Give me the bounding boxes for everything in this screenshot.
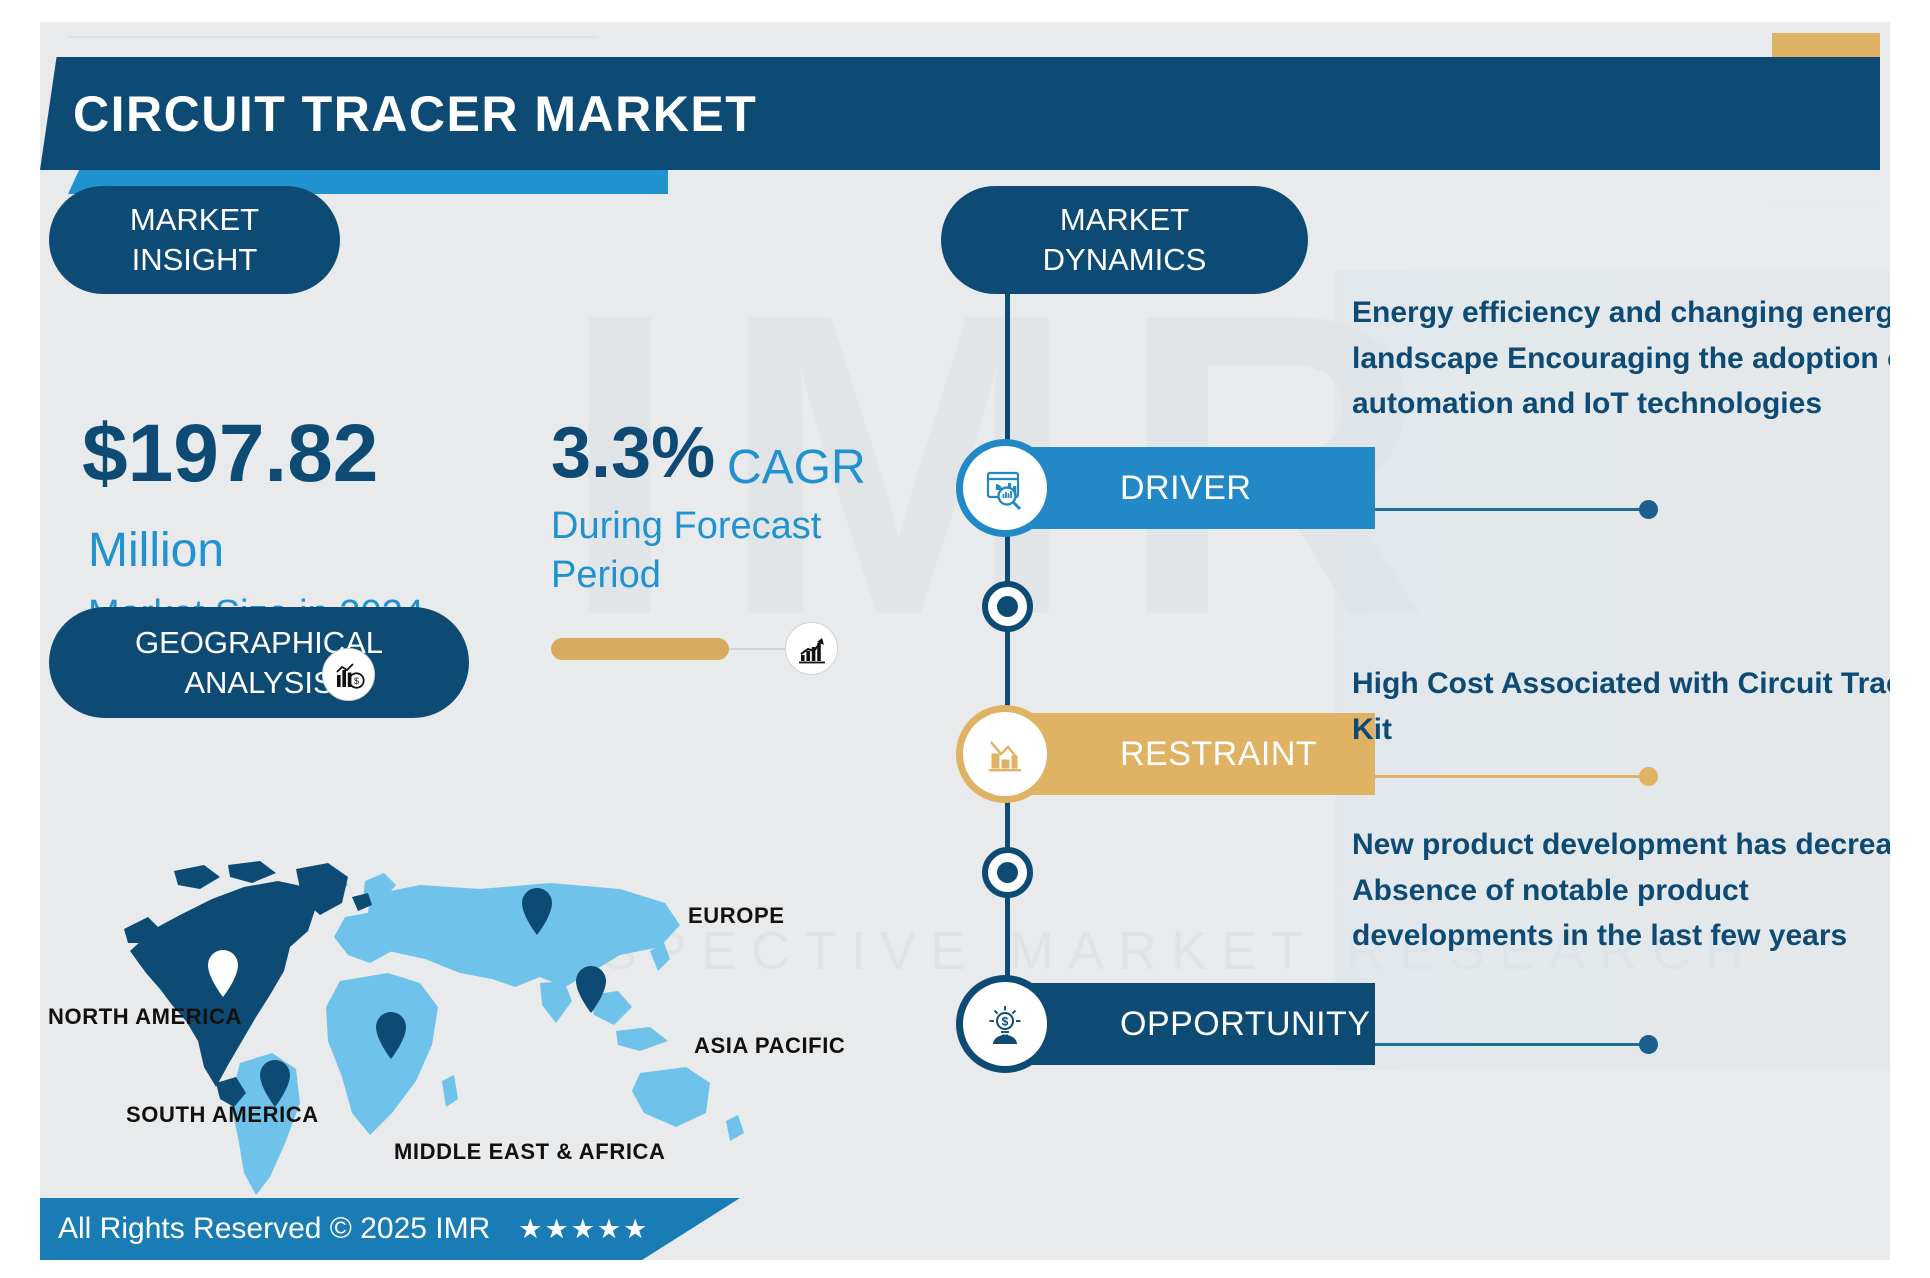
- driver-label: DRIVER: [1120, 469, 1251, 508]
- geo-pill-line2: ANALYSIS: [184, 663, 333, 703]
- map-label-south-america: SOUTH AMERICA: [126, 1102, 319, 1128]
- dynamics-timeline-spine: [1005, 294, 1010, 1035]
- footer-copyright: All Rights Reserved © 2025 IMR: [58, 1212, 490, 1246]
- restraint-connector-dot: [1639, 767, 1658, 786]
- svg-text:$: $: [353, 676, 358, 686]
- restraint-badge[interactable]: RESTRAINT: [1005, 713, 1375, 795]
- dynamics-pill-line2: DYNAMICS: [1043, 240, 1207, 280]
- frame-top: [0, 0, 1930, 22]
- frame-bottom: [0, 1260, 1930, 1278]
- infographic-canvas: IMR PROSPECTIVE MARKET RESEARCH CIRCUIT …: [0, 0, 1930, 1278]
- growth-arrow-chart-icon: [785, 622, 838, 675]
- driver-description: Energy efficiency and changing energy la…: [1352, 290, 1930, 427]
- map-label-europe: EUROPE: [688, 903, 785, 929]
- market-size-unit: Million: [88, 523, 224, 578]
- right-hairline: [1770, 204, 1880, 206]
- market-size-value: $197.82: [82, 407, 378, 501]
- footer-bar: All Rights Reserved © 2025 IMR ★★★★★: [40, 1198, 740, 1260]
- timeline-node-1: [982, 581, 1033, 632]
- frame-left: [0, 0, 40, 1278]
- restraint-label: RESTRAINT: [1120, 735, 1317, 774]
- top-hairline: [68, 36, 598, 38]
- cagr-caption: During Forecast Period: [551, 502, 841, 599]
- opportunity-description: New product development has decreased Ab…: [1352, 822, 1930, 959]
- frame-right: [1890, 0, 1930, 1278]
- cagr-value: 3.3%: [551, 412, 715, 494]
- map-label-north-america: NORTH AMERICA: [48, 1004, 242, 1030]
- bar-chart-dollar-icon: $: [322, 648, 375, 701]
- market-insight-pill-line2: INSIGHT: [132, 240, 258, 280]
- title-banner: CIRCUIT TRACER MARKET: [40, 57, 1880, 170]
- driver-connector-dot: [1639, 500, 1658, 519]
- market-insight-pill: MARKET INSIGHT: [49, 186, 340, 294]
- opportunity-label: OPPORTUNITY: [1120, 1005, 1370, 1044]
- gold-accent-tab: [1772, 33, 1880, 59]
- market-insight-pill-line1: MARKET: [130, 200, 259, 240]
- opportunity-connector-dot: [1639, 1035, 1658, 1054]
- market-dynamics-pill: MARKET DYNAMICS: [941, 186, 1308, 294]
- opportunity-connector: [1333, 1043, 1649, 1046]
- page-title: CIRCUIT TRACER MARKET: [73, 85, 757, 143]
- driver-connector: [1333, 508, 1649, 511]
- lightbulb-dollar-icon: $: [963, 982, 1047, 1066]
- map-label-middle-east-africa: MIDDLE EAST & AFRICA: [394, 1139, 666, 1165]
- svg-text:$: $: [1002, 1015, 1009, 1029]
- opportunity-badge[interactable]: OPPORTUNITY: [1005, 983, 1375, 1065]
- cagr-label: CAGR: [727, 440, 866, 495]
- cagr-bar-fill: [551, 638, 729, 660]
- declining-bar-chart-icon: [963, 712, 1047, 796]
- map-label-asia-pacific: ASIA PACIFIC: [694, 1033, 845, 1059]
- driver-badge[interactable]: DRIVER: [1005, 447, 1375, 529]
- dynamics-pill-line1: MARKET: [1060, 200, 1189, 240]
- geographical-analysis-pill: GEOGRAPHICAL ANALYSIS: [49, 607, 469, 718]
- footer-rating-stars: ★★★★★: [518, 1214, 649, 1245]
- restraint-connector: [1333, 775, 1649, 778]
- analytics-magnifier-icon: [963, 446, 1047, 530]
- restraint-description: High Cost Associated with Circuit Tracer…: [1352, 661, 1930, 752]
- timeline-node-2: [982, 847, 1033, 898]
